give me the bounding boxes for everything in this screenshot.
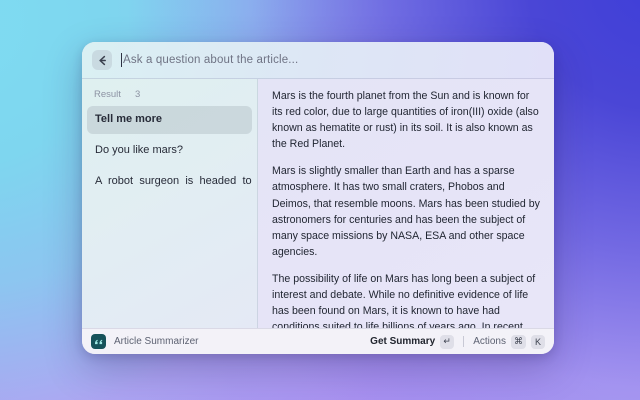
article-paragraph: Mars is the fourth planet from the Sun a… [272, 88, 541, 152]
text-caret [121, 53, 122, 67]
footer-divider [463, 336, 464, 347]
results-count: 3 [135, 89, 140, 100]
actions-label: Actions [473, 336, 506, 347]
results-sidebar: Result 3 Tell me more Do you like mars? … [82, 79, 258, 328]
back-button[interactable] [92, 50, 112, 70]
desktop-background: Ask a question about the article... Resu… [0, 0, 640, 400]
sidebar-item-tell-me-more[interactable]: Tell me more [87, 106, 252, 134]
get-summary-action[interactable]: Get Summary ↵ [370, 335, 454, 349]
get-summary-label: Get Summary [370, 336, 435, 347]
search-placeholder: Ask a question about the article... [123, 54, 298, 66]
app-window: Ask a question about the article... Resu… [82, 42, 554, 354]
search-header: Ask a question about the article... [82, 42, 554, 79]
sidebar-item-do-you-like-mars[interactable]: Do you like mars? [87, 137, 252, 165]
sidebar-item-robot-surgeon[interactable]: A robot surgeon is headed to the… [87, 168, 252, 196]
footer-bar: Article Summarizer Get Summary ↵ Actions… [82, 328, 554, 354]
results-label: Result [94, 89, 121, 100]
app-name-label: Article Summarizer [114, 336, 198, 347]
command-key-badge: ⌘ [511, 335, 526, 349]
article-paragraph: The possibility of life on Mars has long… [272, 271, 541, 328]
sidebar-item-label: A robot surgeon is headed to the… [95, 175, 252, 187]
sidebar-item-label: Tell me more [95, 113, 162, 125]
sidebar-item-label: Do you like mars? [95, 144, 183, 156]
article-content[interactable]: Mars is the fourth planet from the Sun a… [258, 79, 554, 328]
quote-marks-icon [91, 334, 106, 349]
article-paragraph: Mars is slightly smaller than Earth and … [272, 163, 541, 260]
results-header: Result 3 [87, 86, 252, 106]
arrow-left-icon [97, 55, 108, 66]
enter-key-badge: ↵ [440, 335, 454, 349]
search-input[interactable]: Ask a question about the article... [121, 49, 544, 71]
window-body: Result 3 Tell me more Do you like mars? … [82, 79, 554, 328]
actions-menu-trigger[interactable]: Actions ⌘ K [473, 335, 545, 349]
k-key-badge: K [531, 335, 545, 349]
